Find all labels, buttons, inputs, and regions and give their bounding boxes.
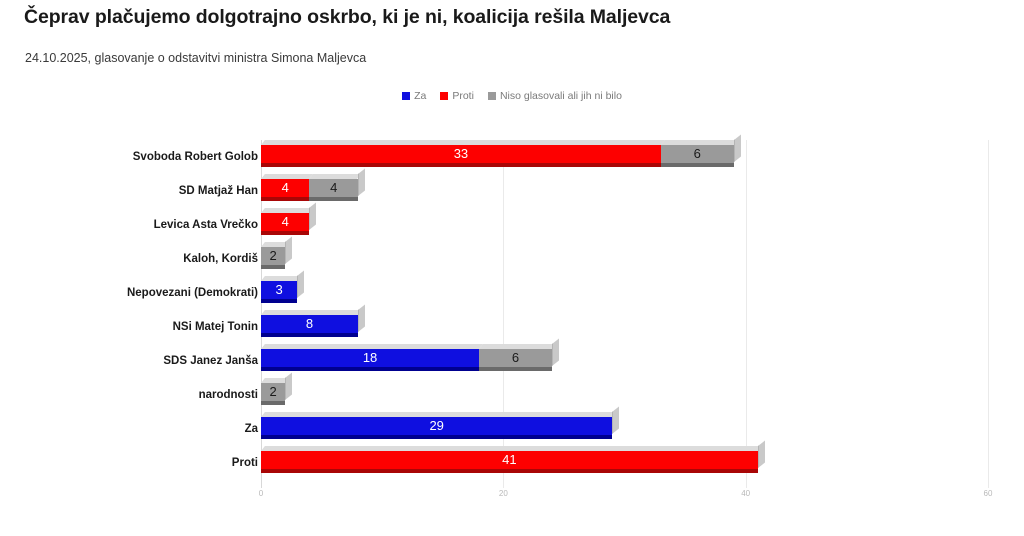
bar-segment-face xyxy=(261,417,612,435)
bar-segment-face xyxy=(261,349,479,367)
bar-segment[interactable]: 18 xyxy=(261,349,479,371)
y-axis-category-label: SDS Janez Janša xyxy=(38,344,258,378)
chart-row: narodnosti2 xyxy=(0,378,1024,412)
bar-segment-side-face xyxy=(285,237,292,264)
chart-row: Za29 xyxy=(0,412,1024,446)
chart-plot-area: 0204060Svoboda Robert Golob336SD Matjaž … xyxy=(0,0,1024,536)
bar-segment[interactable]: 2 xyxy=(261,247,285,269)
bar-segment-side-face xyxy=(358,169,365,196)
bar-segment-side-face xyxy=(734,135,741,162)
y-axis-category-label: SD Matjaž Han xyxy=(38,174,258,208)
bar-segment-face xyxy=(261,179,309,197)
bar-segment[interactable]: 3 xyxy=(261,281,297,303)
bar-segment-shadow xyxy=(261,435,612,439)
bar-segment-shadow xyxy=(261,333,358,337)
bar-segment-shadow xyxy=(661,163,734,167)
y-axis-category-label: narodnosti xyxy=(38,378,258,412)
bar-segment-side-face xyxy=(285,373,292,400)
bar-segment[interactable]: 33 xyxy=(261,145,661,167)
chart-row: Svoboda Robert Golob336 xyxy=(0,140,1024,174)
y-axis-category-label: Proti xyxy=(38,446,258,480)
bar-segment-face xyxy=(261,451,758,469)
bar-segment-side-face xyxy=(612,407,619,434)
bar-segment-face xyxy=(261,145,661,163)
y-axis-category-label: Kaloh, Kordiš xyxy=(38,242,258,276)
y-axis-category-label: Nepovezani (Demokrati) xyxy=(38,276,258,310)
bar-segment[interactable]: 2 xyxy=(261,383,285,405)
x-axis-tick-label: 60 xyxy=(984,489,993,498)
bar-segment[interactable]: 41 xyxy=(261,451,758,473)
bar-segment-shadow xyxy=(261,299,297,303)
chart-row: SD Matjaž Han44 xyxy=(0,174,1024,208)
x-axis-tick-label: 20 xyxy=(499,489,508,498)
x-axis-tick-label: 40 xyxy=(741,489,750,498)
bar-segment-shadow xyxy=(261,265,285,269)
bar-segment-shadow xyxy=(261,401,285,405)
chart-row: NSi Matej Tonin8 xyxy=(0,310,1024,344)
chart-row: Levica Asta Vrečko4 xyxy=(0,208,1024,242)
bar-segment[interactable]: 4 xyxy=(261,213,309,235)
y-axis-category-label: Levica Asta Vrečko xyxy=(38,208,258,242)
bar-segment[interactable]: 6 xyxy=(479,349,552,371)
bar-segment-face xyxy=(309,179,357,197)
bar-segment-face xyxy=(261,213,309,231)
chart-row: SDS Janez Janša186 xyxy=(0,344,1024,378)
bar-segment-face xyxy=(661,145,734,163)
bar-segment[interactable]: 4 xyxy=(309,179,357,201)
bar-segment-side-face xyxy=(358,305,365,332)
bar-segment-face xyxy=(261,315,358,333)
bar-segment-face xyxy=(479,349,552,367)
bar-segment[interactable]: 8 xyxy=(261,315,358,337)
bar-segment-shadow xyxy=(261,367,479,371)
bar-segment-side-face xyxy=(309,203,316,230)
bar-segment-face xyxy=(261,247,285,265)
bar-segment[interactable]: 6 xyxy=(661,145,734,167)
bar-segment-side-face xyxy=(297,271,304,298)
bar-segment-shadow xyxy=(261,469,758,473)
chart-row: Proti41 xyxy=(0,446,1024,480)
bar-segment-shadow xyxy=(261,231,309,235)
bar-segment-side-face xyxy=(552,339,559,366)
y-axis-category-label: Svoboda Robert Golob xyxy=(38,140,258,174)
bar-segment[interactable]: 4 xyxy=(261,179,309,201)
bar-segment-side-face xyxy=(758,441,765,468)
bar-segment-face xyxy=(261,383,285,401)
bar-segment-shadow xyxy=(261,163,661,167)
chart-row: Nepovezani (Demokrati)3 xyxy=(0,276,1024,310)
bar-segment-shadow xyxy=(261,197,309,201)
chart-row: Kaloh, Kordiš2 xyxy=(0,242,1024,276)
bar-segment-shadow xyxy=(309,197,357,201)
bar-segment[interactable]: 29 xyxy=(261,417,612,439)
x-axis-tick-label: 0 xyxy=(259,489,263,498)
y-axis-category-label: NSi Matej Tonin xyxy=(38,310,258,344)
bar-segment-shadow xyxy=(479,367,552,371)
y-axis-category-label: Za xyxy=(38,412,258,446)
bar-segment-face xyxy=(261,281,297,299)
